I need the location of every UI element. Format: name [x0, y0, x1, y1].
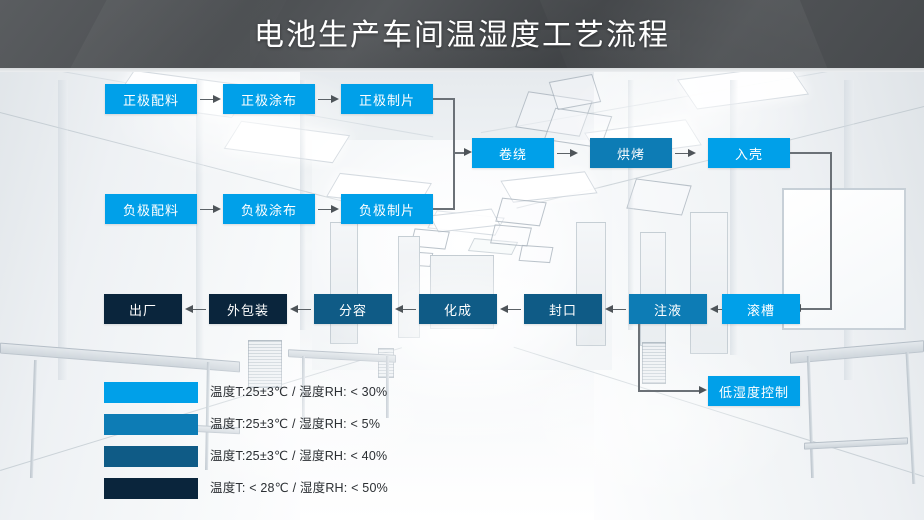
- flow-node-label: 正极制片: [359, 90, 415, 109]
- slide-canvas: 电池生产车间温湿度工艺流程 正极配料 正极涂布 正极制片 负极配料 负极涂布 负…: [0, 0, 924, 520]
- flow-node-label: 负极涂布: [241, 200, 297, 219]
- merge-connector-arrowhead: [464, 148, 472, 156]
- flow-node-zhengji-peiliao[interactable]: 正极配料: [105, 84, 197, 114]
- arrow-r3-1: [185, 305, 206, 314]
- flow-node-fuji-peiliao[interactable]: 负极配料: [105, 194, 197, 224]
- title-banner: 电池生产车间温湿度工艺流程: [0, 0, 924, 68]
- aux-connector-horizontal: [638, 390, 700, 392]
- arrow-r3-5: [605, 305, 626, 314]
- legend-label: 温度T:25±3℃ / 湿度RH: < 40%: [210, 445, 387, 464]
- merge-connector-bottom: [433, 208, 455, 210]
- legend-label: 温度T:25±3℃ / 湿度RH: < 30%: [210, 381, 387, 400]
- aux-connector-arrowhead: [699, 386, 707, 394]
- flow-node-zhuye[interactable]: 注液: [629, 294, 707, 324]
- flow-node-label: 出厂: [129, 300, 157, 319]
- flow-node-chuchang[interactable]: 出厂: [104, 294, 182, 324]
- flow-node-label: 正极配料: [123, 90, 179, 109]
- arrow-r3-3: [395, 305, 416, 314]
- flow-node-huacheng[interactable]: 化成: [419, 294, 497, 324]
- arrow-r1-1: [200, 95, 221, 104]
- flow-node-low-humidity-control[interactable]: 低湿度控制: [708, 376, 800, 406]
- flow-node-label: 卷绕: [499, 144, 527, 163]
- flow-node-label: 分容: [339, 300, 367, 319]
- arrow-r1r-1: [557, 149, 578, 158]
- merge-connector-top: [433, 98, 455, 100]
- flow-node-fengkou[interactable]: 封口: [524, 294, 602, 324]
- flow-node-label: 入壳: [735, 144, 763, 163]
- arrow-r1r-2: [675, 149, 696, 158]
- flow-node-label: 低湿度控制: [719, 382, 789, 401]
- flow-node-label: 烘烤: [617, 144, 645, 163]
- flow-node-label: 负极制片: [359, 200, 415, 219]
- legend-label: 温度T: < 28℃ / 湿度RH: < 50%: [210, 477, 388, 496]
- flow-node-fuji-tubu[interactable]: 负极涂布: [223, 194, 315, 224]
- arrow-r1-2: [318, 95, 339, 104]
- flow-node-label: 外包装: [227, 300, 269, 319]
- legend-label: 温度T:25±3℃ / 湿度RH: < 5%: [210, 413, 380, 432]
- legend-swatch-navy: [104, 478, 198, 499]
- aux-connector-vertical: [638, 324, 640, 391]
- arrow-r3-2: [290, 305, 311, 314]
- page-title: 电池生产车间温湿度工艺流程: [0, 10, 924, 54]
- arrow-r2-2: [318, 205, 339, 214]
- arrow-r3-4: [500, 305, 521, 314]
- flow-node-label: 滚槽: [747, 300, 775, 319]
- wrap-connector-bottom: [800, 308, 832, 310]
- wrap-connector-top: [790, 152, 832, 154]
- flow-node-hongkao[interactable]: 烘烤: [590, 138, 672, 168]
- flow-node-zhengji-zhipian[interactable]: 正极制片: [341, 84, 433, 114]
- flow-node-label: 封口: [549, 300, 577, 319]
- flow-node-label: 注液: [654, 300, 682, 319]
- wrap-connector-vertical: [830, 152, 832, 309]
- header-divider: [0, 68, 924, 72]
- arrow-r2-1: [200, 205, 221, 214]
- legend-swatch-steel-blue: [104, 446, 198, 467]
- flow-node-zhengji-tubu[interactable]: 正极涂布: [223, 84, 315, 114]
- flow-node-label: 化成: [444, 300, 472, 319]
- flow-node-waibaozhuang[interactable]: 外包装: [209, 294, 287, 324]
- flow-node-ruke[interactable]: 入壳: [708, 138, 790, 168]
- merge-connector-vertical: [453, 98, 455, 210]
- flow-node-fenrong[interactable]: 分容: [314, 294, 392, 324]
- flow-node-label: 负极配料: [123, 200, 179, 219]
- cleanroom-background-image: [0, 0, 924, 520]
- legend-swatch-light-blue: [104, 382, 198, 403]
- flow-node-label: 正极涂布: [241, 90, 297, 109]
- flow-node-juanrao[interactable]: 卷绕: [472, 138, 554, 168]
- flow-node-guncao[interactable]: 滚槽: [722, 294, 800, 324]
- legend-swatch-medium-blue: [104, 414, 198, 435]
- flow-node-fuji-zhipian[interactable]: 负极制片: [341, 194, 433, 224]
